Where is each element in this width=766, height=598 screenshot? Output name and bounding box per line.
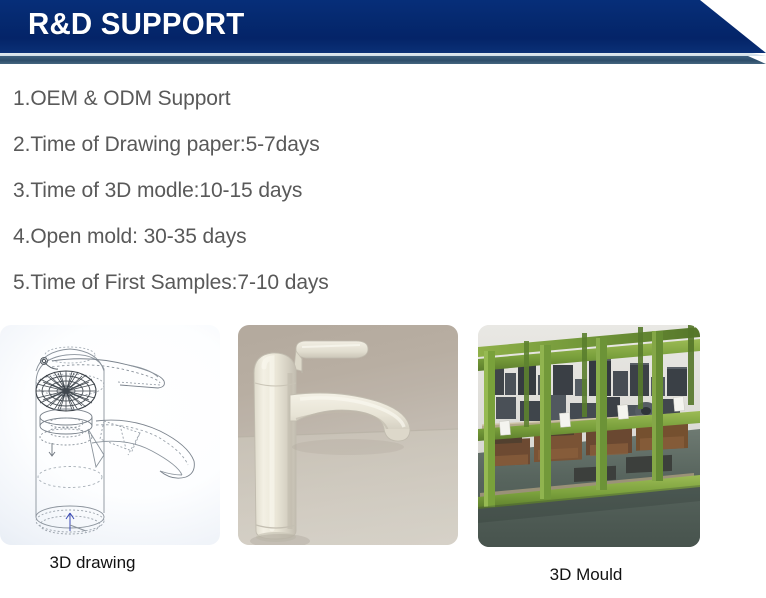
caption-3d-drawing: 3D drawing bbox=[0, 553, 185, 573]
process-image-gallery: 3D drawing bbox=[0, 325, 766, 598]
feature-list-item-1: 1.OEM & ODM Support bbox=[13, 76, 613, 122]
warehouse-mould-rack-image bbox=[478, 325, 700, 547]
white-faucet-prototype-art bbox=[238, 325, 458, 545]
header-accent-hairline bbox=[0, 53, 766, 56]
gallery-card-3d-drawing: 3D drawing bbox=[0, 325, 220, 545]
page-header-banner: R&D SUPPORT bbox=[0, 0, 766, 64]
white-faucet-prototype-image bbox=[238, 325, 458, 545]
gallery-card-3d-mould: 3D Mould bbox=[238, 325, 458, 545]
warehouse-mould-rack-art bbox=[478, 325, 700, 547]
caption-3d-mould: 3D Mould bbox=[476, 565, 696, 585]
gallery-card-oem-mould: OEM & ODM mould bbox=[478, 325, 700, 547]
cad-wireframe-drawing bbox=[0, 325, 220, 545]
rd-support-feature-list: 1.OEM & ODM Support 2.Time of Drawing pa… bbox=[13, 76, 613, 306]
feature-list-item-5: 5.Time of First Samples:7-10 days bbox=[13, 260, 613, 306]
header-slate-bar bbox=[0, 56, 766, 64]
page-title: R&D SUPPORT bbox=[28, 6, 244, 42]
feature-list-item-4: 4.Open mold: 30-35 days bbox=[13, 214, 613, 260]
feature-list-item-2: 2.Time of Drawing paper:5-7days bbox=[13, 122, 613, 168]
faucet-cad-wireframe-image bbox=[0, 325, 220, 545]
feature-list-item-3: 3.Time of 3D modle:10-15 days bbox=[13, 168, 613, 214]
